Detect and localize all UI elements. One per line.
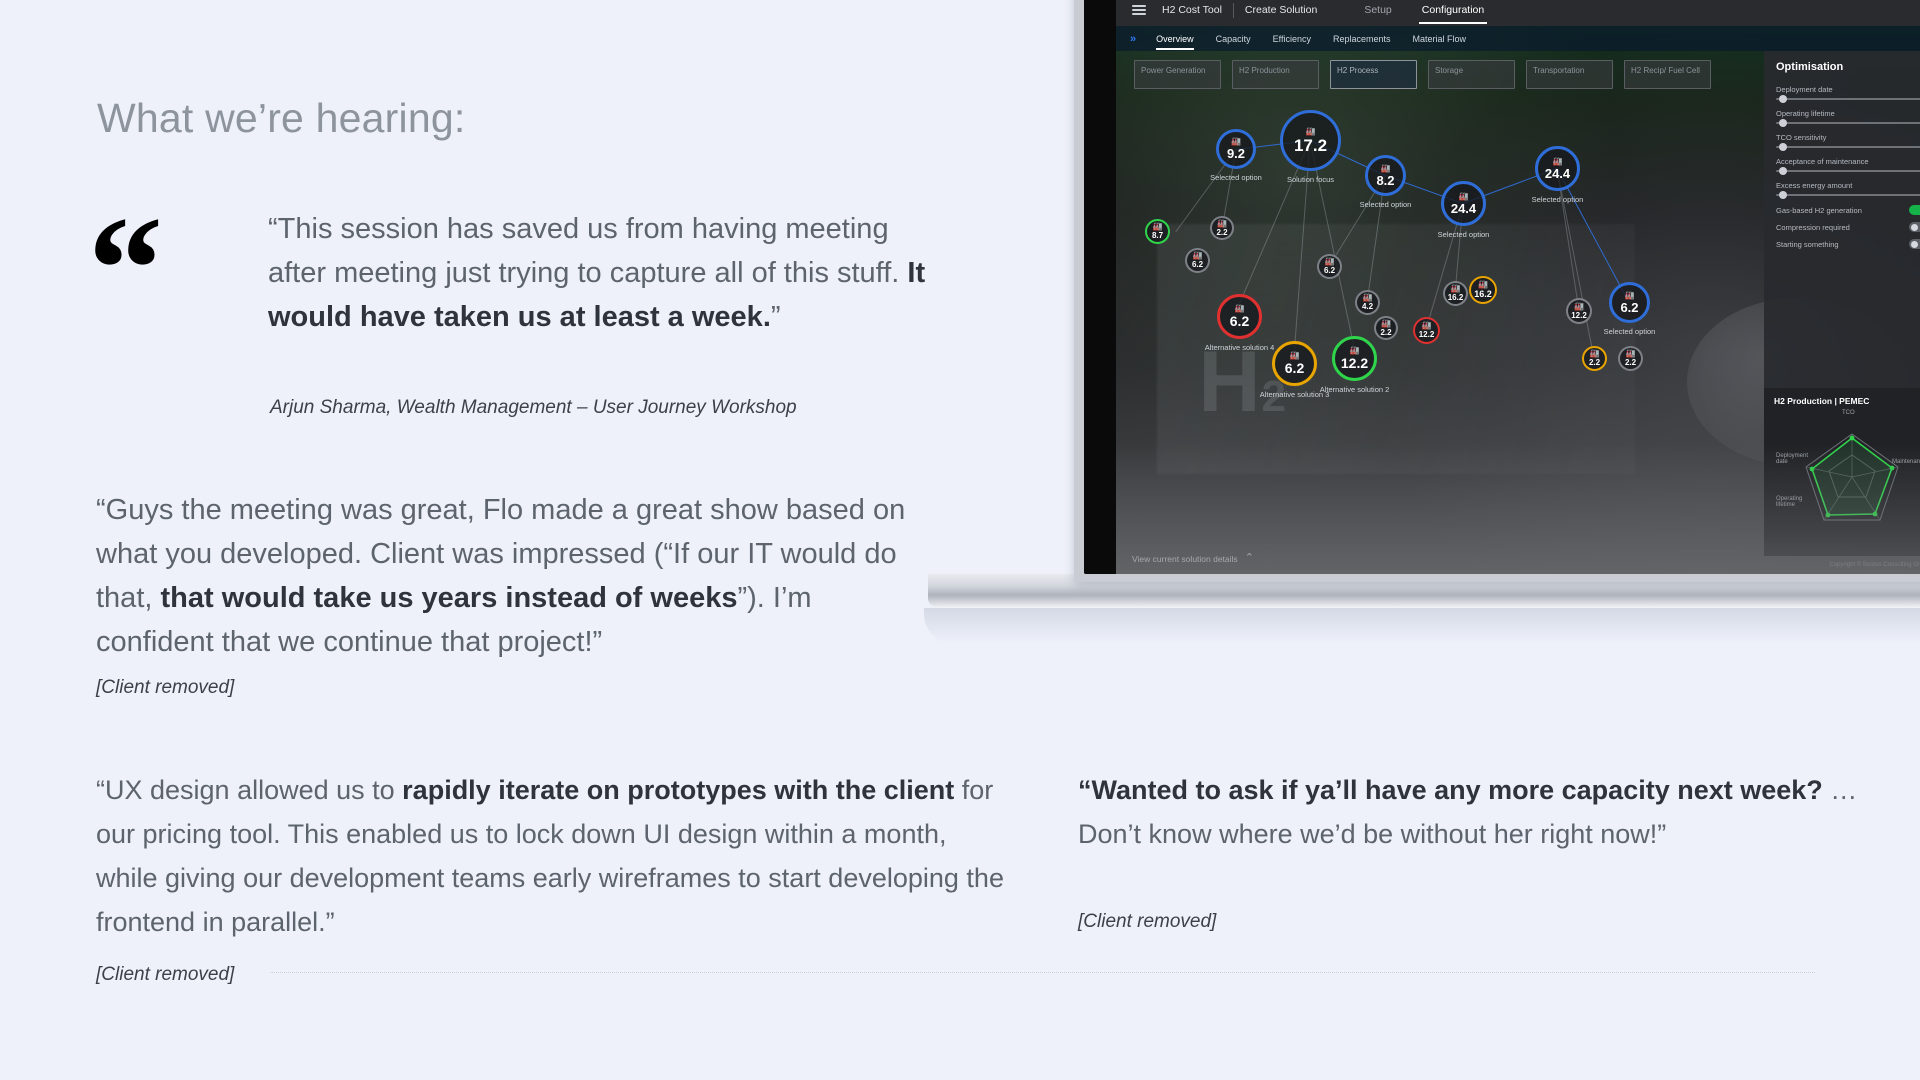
node-value: 8.2 [1376, 174, 1394, 187]
laptop-lid: H2 Cost Tool Create Solution Setup Confi… [1074, 0, 1920, 582]
node-label: Selected option [1351, 200, 1421, 209]
solution-node[interactable]: 🏭2.2 [1618, 346, 1643, 371]
factory-icon: 🏭 [1290, 352, 1300, 360]
quote-run: “UX design allowed us to [96, 775, 402, 805]
toggle-label: Gas-based H2 generation [1776, 206, 1862, 215]
slider-label: Deployment date [1776, 85, 1920, 94]
node-value: 2.2 [1380, 329, 1391, 337]
node-value: 12.2 [1419, 331, 1435, 339]
node-value: 6.2 [1285, 361, 1304, 375]
toggle-label: Starting something [1776, 240, 1839, 249]
double-chevron-right-icon[interactable]: » [1130, 33, 1134, 45]
node-value: 17.2 [1294, 137, 1327, 154]
laptop-screen: H2 Cost Tool Create Solution Setup Confi… [1084, 0, 1920, 574]
node-label: Selected option [1523, 195, 1593, 204]
quote-4-text: “Wanted to ask if ya’ll have any more ca… [1078, 768, 1868, 856]
solution-node[interactable]: 🏭8.2 [1365, 155, 1406, 196]
slider-knob[interactable] [1779, 143, 1787, 151]
toggle-gas-based-h2-generation[interactable]: Gas-based H2 generation [1776, 205, 1920, 215]
caret-up-icon: ⌃ [1245, 553, 1254, 564]
solution-node[interactable]: 🏭24.4 [1441, 181, 1486, 226]
factory-icon: 🏭 [1626, 350, 1636, 358]
divider [270, 972, 1815, 973]
factory-icon: 🏭 [1231, 138, 1241, 146]
subtab-replacements[interactable]: Replacements [1333, 34, 1391, 44]
slider-knob[interactable] [1779, 191, 1787, 199]
optimisation-sliders: Deployment dateOperating lifetimeTCO sen… [1776, 85, 1920, 196]
factory-icon: 🏭 [1459, 193, 1469, 201]
solution-node[interactable]: 🏭17.2 [1280, 110, 1341, 171]
slider-knob[interactable] [1779, 95, 1787, 103]
factory-icon: 🏭 [1381, 320, 1391, 328]
quote-emphasis: that would take us years instead of week… [161, 582, 738, 614]
solution-node[interactable]: 🏭6.2 [1609, 282, 1650, 323]
slider-excess-energy-amount[interactable]: Excess energy amount [1776, 181, 1920, 196]
subtab-capacity[interactable]: Capacity [1216, 34, 1251, 44]
app-brand: H2 Cost Tool [1162, 4, 1222, 16]
chip-storage[interactable]: Storage [1428, 60, 1515, 89]
quote-emphasis: “Wanted to ask if ya’ll have any more ca… [1078, 775, 1830, 805]
slider-tco-sensitivity[interactable]: TCO sensitivity [1776, 133, 1920, 148]
optimisation-panel: Optimisation Deployment dateOperating li… [1764, 51, 1920, 542]
factory-icon: 🏭 [1153, 223, 1163, 231]
toggle-starting-something[interactable]: Starting something [1776, 239, 1920, 249]
node-label: Alternative solution 4 [1205, 343, 1275, 352]
slider-label: TCO sensitivity [1776, 133, 1920, 142]
solution-node[interactable]: 🏭6.2 [1217, 294, 1262, 339]
slider-label: Acceptance of maintenance [1776, 157, 1920, 166]
node-label: Selected option [1429, 230, 1499, 239]
solution-canvas: H2 » Overview Capacity Efficiency Replac… [1116, 26, 1920, 574]
node-value: 24.4 [1545, 167, 1570, 180]
factory-icon: 🏭 [1553, 158, 1563, 166]
quote-2-attribution: [Client removed] [96, 677, 234, 699]
toggle-switch[interactable] [1909, 205, 1920, 215]
radar-axis-deployment-date: Deployment date [1776, 453, 1810, 465]
factory-icon: 🏭 [1451, 285, 1461, 293]
node-value: 12.2 [1341, 356, 1368, 370]
slider-label: Excess energy amount [1776, 181, 1920, 190]
toggle-compression-required[interactable]: Compression required [1776, 222, 1920, 232]
radar-axis-maintenance: Maintenance [1892, 459, 1920, 465]
solution-node[interactable]: 🏭16.2 [1443, 281, 1468, 306]
node-value: 2.2 [1216, 229, 1227, 237]
quote-1-attribution: Arjun Sharma, Wealth Management – User J… [270, 394, 850, 421]
hamburger-icon[interactable] [1132, 2, 1146, 17]
node-value: 2.2 [1589, 359, 1600, 367]
laptop-mockup: H2 Cost Tool Create Solution Setup Confi… [1074, 0, 1920, 646]
chip-transportation[interactable]: Transportation [1526, 60, 1613, 89]
quote-run: “This session has saved us from having m… [268, 213, 907, 289]
slider-deployment-date[interactable]: Deployment date [1776, 85, 1920, 100]
toggle-label: Compression required [1776, 223, 1850, 232]
node-label: Selected option [1201, 173, 1271, 182]
node-value: 4.2 [1362, 303, 1373, 311]
solution-node[interactable]: 🏭6.2 [1317, 254, 1342, 279]
view-solution-details-label: View current solution details [1132, 554, 1238, 564]
quote-3-text: “UX design allowed us to rapidly iterate… [96, 768, 1006, 944]
radar-axis-tco: TCO [1842, 410, 1855, 416]
node-value: 12.2 [1571, 312, 1587, 320]
slider-operating-lifetime[interactable]: Operating lifetime [1776, 109, 1920, 124]
nav-divider [1233, 3, 1234, 18]
wizard-steps: Setup Configuration [1364, 0, 1484, 26]
slider-label: Operating lifetime [1776, 109, 1920, 118]
chip-h2-process[interactable]: H2 Process [1330, 60, 1417, 89]
solution-node[interactable]: 🏭2.2 [1374, 316, 1398, 340]
chip-h2-production[interactable]: H2 Production [1232, 60, 1319, 89]
screen-bezel [1084, 0, 1116, 574]
factory-icon: 🏭 [1306, 128, 1316, 136]
quote-run: ” [771, 301, 781, 333]
solution-node[interactable]: 🏭4.2 [1355, 290, 1380, 315]
factory-icon: 🏭 [1625, 292, 1635, 300]
node-label: Selected option [1595, 327, 1665, 336]
factory-icon: 🏭 [1363, 294, 1373, 302]
factory-icon: 🏭 [1217, 220, 1227, 228]
node-value: 6.2 [1192, 261, 1203, 269]
node-value: 24.4 [1451, 202, 1476, 215]
slider-track[interactable] [1776, 122, 1920, 124]
node-label: Solution focus [1276, 175, 1346, 184]
node-value: 16.2 [1448, 294, 1464, 302]
node-value: 2.2 [1625, 359, 1636, 367]
factory-icon: 🏭 [1325, 258, 1335, 266]
node-value: 6.2 [1620, 301, 1638, 314]
node-value: 6.2 [1230, 314, 1249, 328]
factory-icon: 🏭 [1381, 165, 1391, 173]
laptop-reflection [924, 608, 1920, 644]
toggle-switch[interactable] [1909, 239, 1920, 249]
solution-node[interactable]: 🏭9.2 [1216, 129, 1256, 169]
step-setup[interactable]: Setup [1364, 0, 1391, 26]
optimisation-title: Optimisation [1776, 61, 1920, 73]
factory-icon: 🏭 [1422, 322, 1432, 330]
slider-acceptance-of-maintenance[interactable]: Acceptance of maintenance [1776, 157, 1920, 172]
copyright-notice: Copyright © Boston Consulting Group [1830, 562, 1920, 568]
factory-icon: 🏭 [1478, 281, 1488, 289]
toggle-switch[interactable] [1909, 222, 1920, 232]
canvas-subtabs: » Overview Capacity Efficiency Replaceme… [1116, 26, 1920, 51]
quote-4-attribution: [Client removed] [1078, 911, 1216, 933]
node-value: 6.2 [1324, 267, 1335, 275]
solution-node[interactable]: 🏭2.2 [1210, 216, 1234, 240]
page-title: What we’re hearing: [97, 95, 465, 142]
quote-emphasis: rapidly iterate on prototypes with the c… [402, 775, 954, 805]
quote-2-text: “Guys the meeting was great, Flo made a … [96, 488, 926, 664]
h2-cost-tool-app: H2 Cost Tool Create Solution Setup Confi… [1116, 0, 1920, 574]
radar-chart: TCO Maintenance Operating lifetime Deplo… [1774, 408, 1920, 540]
factory-icon: 🏭 [1235, 305, 1245, 313]
slider-knob[interactable] [1779, 119, 1787, 127]
step-configuration[interactable]: Configuration [1422, 0, 1484, 26]
quote-1-text: “This session has saved us from having m… [268, 207, 928, 339]
chip-h2-recip-fuel-cell[interactable]: H2 Recip/ Fuel Cell [1624, 60, 1711, 89]
optimisation-toggles: Gas-based H2 generationCompression requi… [1776, 205, 1920, 249]
nav-create-solution[interactable]: Create Solution [1245, 4, 1317, 16]
solution-node[interactable]: 🏭2.2 [1582, 346, 1607, 371]
node-value: 9.2 [1227, 147, 1245, 160]
subtab-efficiency[interactable]: Efficiency [1273, 34, 1311, 44]
solution-node[interactable]: 🏭24.4 [1535, 146, 1580, 191]
slider-knob[interactable] [1779, 167, 1787, 175]
radar-chart-title: H2 Production | PEMEC [1774, 396, 1920, 406]
factory-icon: 🏭 [1590, 350, 1600, 358]
solution-node[interactable]: 🏭12.2 [1413, 317, 1440, 344]
radar-axis-operating-lifetime: Operating lifetime [1776, 496, 1810, 508]
subtab-overview[interactable]: Overview [1156, 34, 1194, 44]
solution-node[interactable]: 🏭8.7 [1145, 219, 1170, 244]
slider-track[interactable] [1776, 98, 1920, 100]
solution-node[interactable]: 🏭6.2 [1272, 341, 1317, 386]
solution-node[interactable]: 🏭16.2 [1469, 276, 1497, 304]
chip-power-generation[interactable]: Power Generation [1134, 60, 1221, 89]
quote-3-attribution: [Client removed] [96, 964, 234, 986]
factory-icon: 🏭 [1350, 347, 1360, 355]
solution-node[interactable]: 🏭12.2 [1566, 298, 1592, 324]
factory-icon: 🏭 [1574, 303, 1584, 311]
app-topnav: H2 Cost Tool Create Solution Setup Confi… [1116, 0, 1920, 26]
subtab-material-flow[interactable]: Material Flow [1413, 34, 1467, 44]
quote-mark-icon: “ [88, 215, 159, 323]
view-solution-details-button[interactable]: View current solution details ⌃ [1132, 553, 1254, 564]
node-label: Alternative solution 2 [1320, 385, 1390, 394]
slider-track[interactable] [1776, 170, 1920, 172]
solution-node[interactable]: 🏭6.2 [1185, 248, 1210, 273]
node-value: 8.7 [1152, 232, 1163, 240]
slider-track[interactable] [1776, 146, 1920, 148]
slider-track[interactable] [1776, 194, 1920, 196]
radar-chart-svg [1774, 408, 1920, 533]
radar-chart-card: H2 Production | PEMEC [1764, 388, 1920, 556]
factory-icon: 🏭 [1193, 252, 1203, 260]
solution-node[interactable]: 🏭12.2 [1332, 336, 1377, 381]
node-value: 16.2 [1474, 290, 1492, 299]
